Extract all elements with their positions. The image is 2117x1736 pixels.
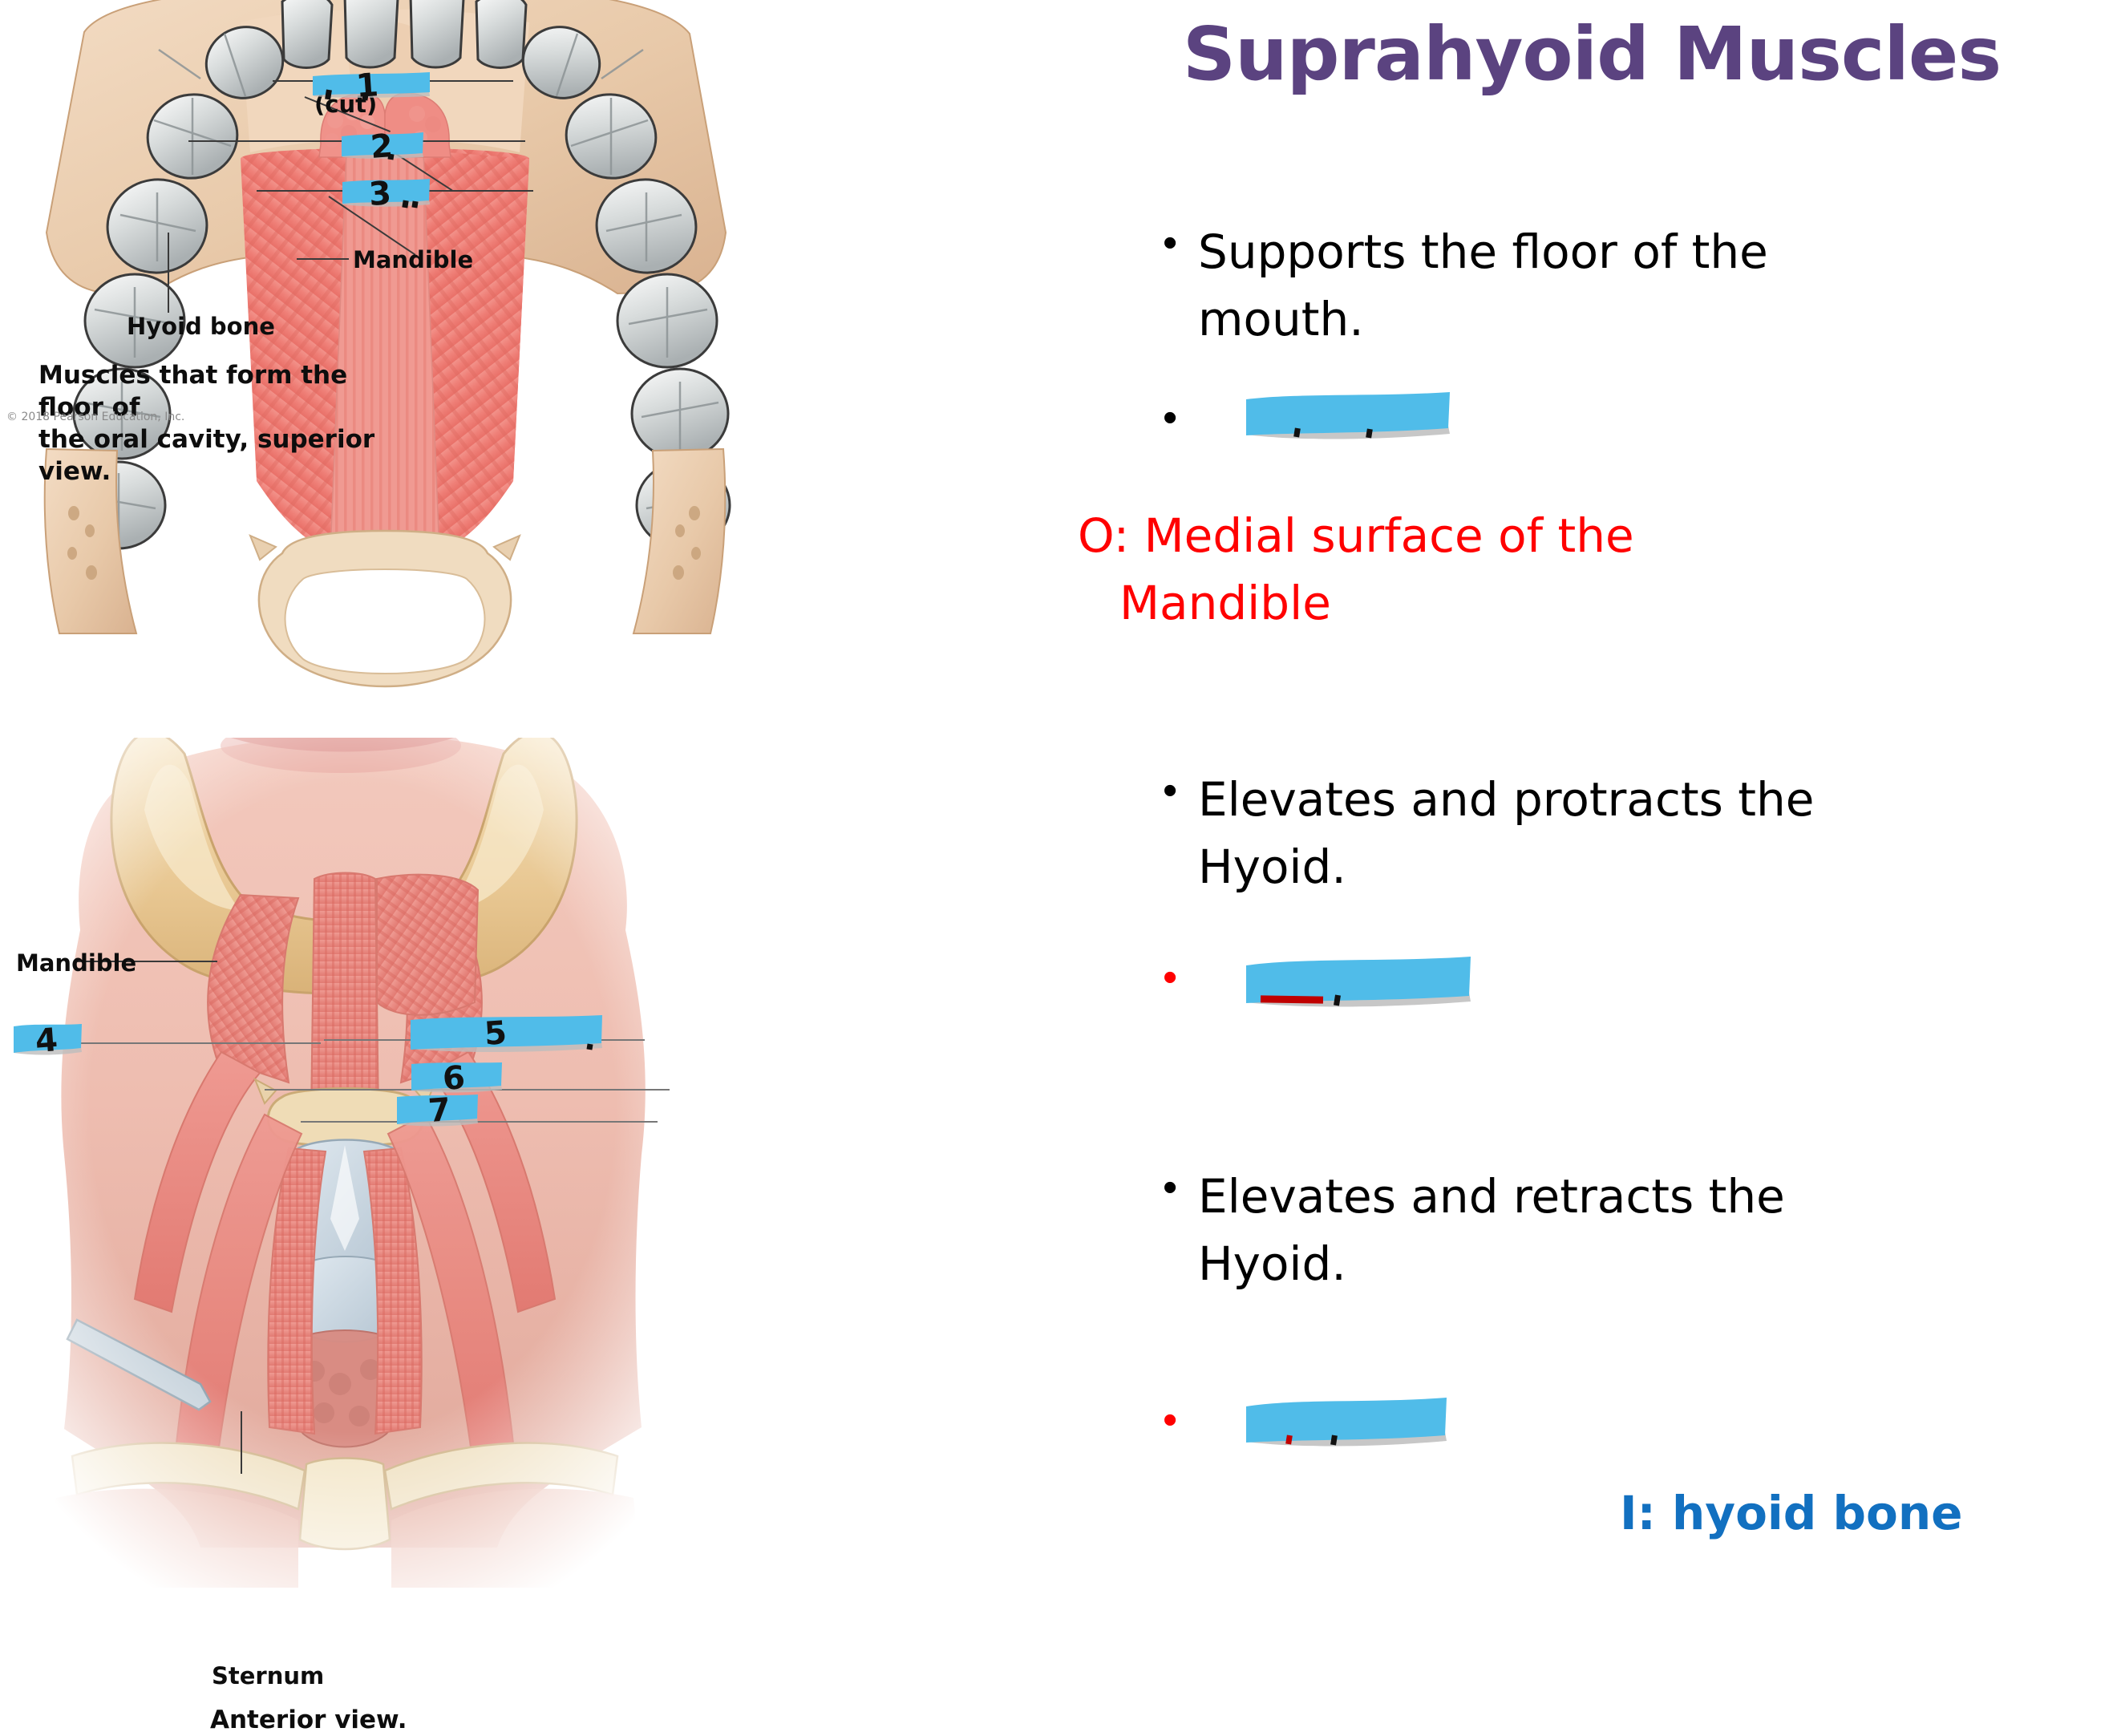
redaction-answer-6[interactable]: 6 — [409, 1062, 504, 1094]
bullet-marker-red: • — [1163, 1395, 1198, 1445]
handwritten-number-3: 3 — [367, 175, 392, 213]
bullet-marker-red: • — [1163, 953, 1198, 1002]
origin-text-block: O: Medial surface of the Mandible — [1078, 502, 1880, 637]
handwritten-number-2: 2 — [369, 127, 394, 166]
label-mandible-top: Mandible — [353, 246, 473, 273]
bullet-item-elevates-retracts: • Elevates and retracts the Hyoid. — [1163, 1163, 2045, 1297]
origin-line-2: Mandible — [1078, 569, 1880, 637]
origin-line-1: O: Medial surface of the — [1078, 502, 1880, 569]
redaction-answer-7[interactable]: 7 — [395, 1094, 480, 1127]
redaction-answer-5[interactable]: 5 — [407, 1015, 604, 1052]
glyph-descender — [411, 201, 418, 208]
copyright-notice: © 2018 Pearson Education, Inc. — [6, 411, 184, 423]
label-hyoid-bone: Hyoid bone — [127, 313, 275, 340]
leader-line-sternum — [241, 1411, 242, 1474]
glyph-descender — [586, 1043, 593, 1050]
bullet-text: Elevates and retracts the Hyoid. — [1198, 1163, 1785, 1297]
figure-top-caption: Muscles that form the floor of the oral … — [38, 359, 375, 488]
caption-line-2: the oral cavity, superior view. — [38, 423, 375, 488]
bullet-line-2: Hyoid. — [1198, 833, 1814, 900]
leader-line-hyoid — [168, 233, 169, 313]
glyph-descender — [387, 153, 394, 160]
figure-oral-cavity-superior: (cut) Mandible Hyoid bone Muscles that f… — [0, 0, 770, 722]
bullet-marker: • — [1163, 393, 1198, 443]
label-sternum: Sternum — [212, 1662, 324, 1689]
redaction-answer-1[interactable]: 1 — [311, 71, 431, 98]
bullet-line-2: mouth. — [1198, 285, 1768, 353]
figure-neck-illustration — [0, 738, 1067, 1588]
bullet-line-1: Elevates and protracts the — [1198, 766, 1814, 833]
slide-content-column: Suprahyoid Muscles • Supports the floor … — [1067, 0, 2117, 1588]
figure-bottom-caption: Anterior view. — [210, 1704, 407, 1736]
bullet-line-2: Hyoid. — [1198, 1230, 1785, 1297]
bullet-marker: • — [1163, 218, 1198, 268]
page-title: Suprahyoid Muscles — [1067, 18, 2117, 91]
bullet-marker: • — [1163, 1163, 1198, 1212]
figure-neck-anterior: Mandible Sternum Anterior view. 4 5 6 7 — [0, 738, 1067, 1588]
redaction-answer-4[interactable]: 4 — [11, 1023, 83, 1055]
bullet-text: Supports the floor of the mouth. — [1198, 218, 1768, 353]
bullet-text: Elevates and protracts the Hyoid. — [1198, 766, 1814, 900]
bullet-line-1: Elevates and retracts the — [1198, 1163, 1785, 1230]
redaction-muscle-name-1[interactable] — [1241, 391, 1453, 441]
bullet-item-supports-floor: • Supports the floor of the mouth. — [1163, 218, 2045, 353]
bullet-line-1: Supports the floor of the — [1198, 218, 1768, 285]
redaction-muscle-name-2[interactable] — [1241, 956, 1474, 1009]
insertion-label: I: hyoid bone — [1620, 1485, 1963, 1541]
label-mandible-bottom: Mandible — [16, 949, 136, 977]
handwritten-number-4: 4 — [34, 1022, 59, 1060]
glyph-descender — [402, 200, 408, 208]
bullet-item-elevates-protracts: • Elevates and protracts the Hyoid. — [1163, 766, 2045, 900]
handwritten-number-5: 5 — [483, 1014, 508, 1053]
handwritten-number-7: 7 — [427, 1091, 451, 1130]
glyph-descender — [362, 94, 368, 101]
leader-line-mandible — [297, 258, 349, 260]
redaction-answer-2[interactable]: 2 — [340, 132, 425, 159]
redaction-answer-3[interactable]: 3 — [340, 178, 431, 207]
redaction-muscle-name-3[interactable] — [1241, 1397, 1451, 1448]
glyph-descender-red — [1261, 995, 1323, 1003]
bullet-marker: • — [1163, 766, 1198, 815]
leader-line-4 — [56, 1042, 321, 1044]
